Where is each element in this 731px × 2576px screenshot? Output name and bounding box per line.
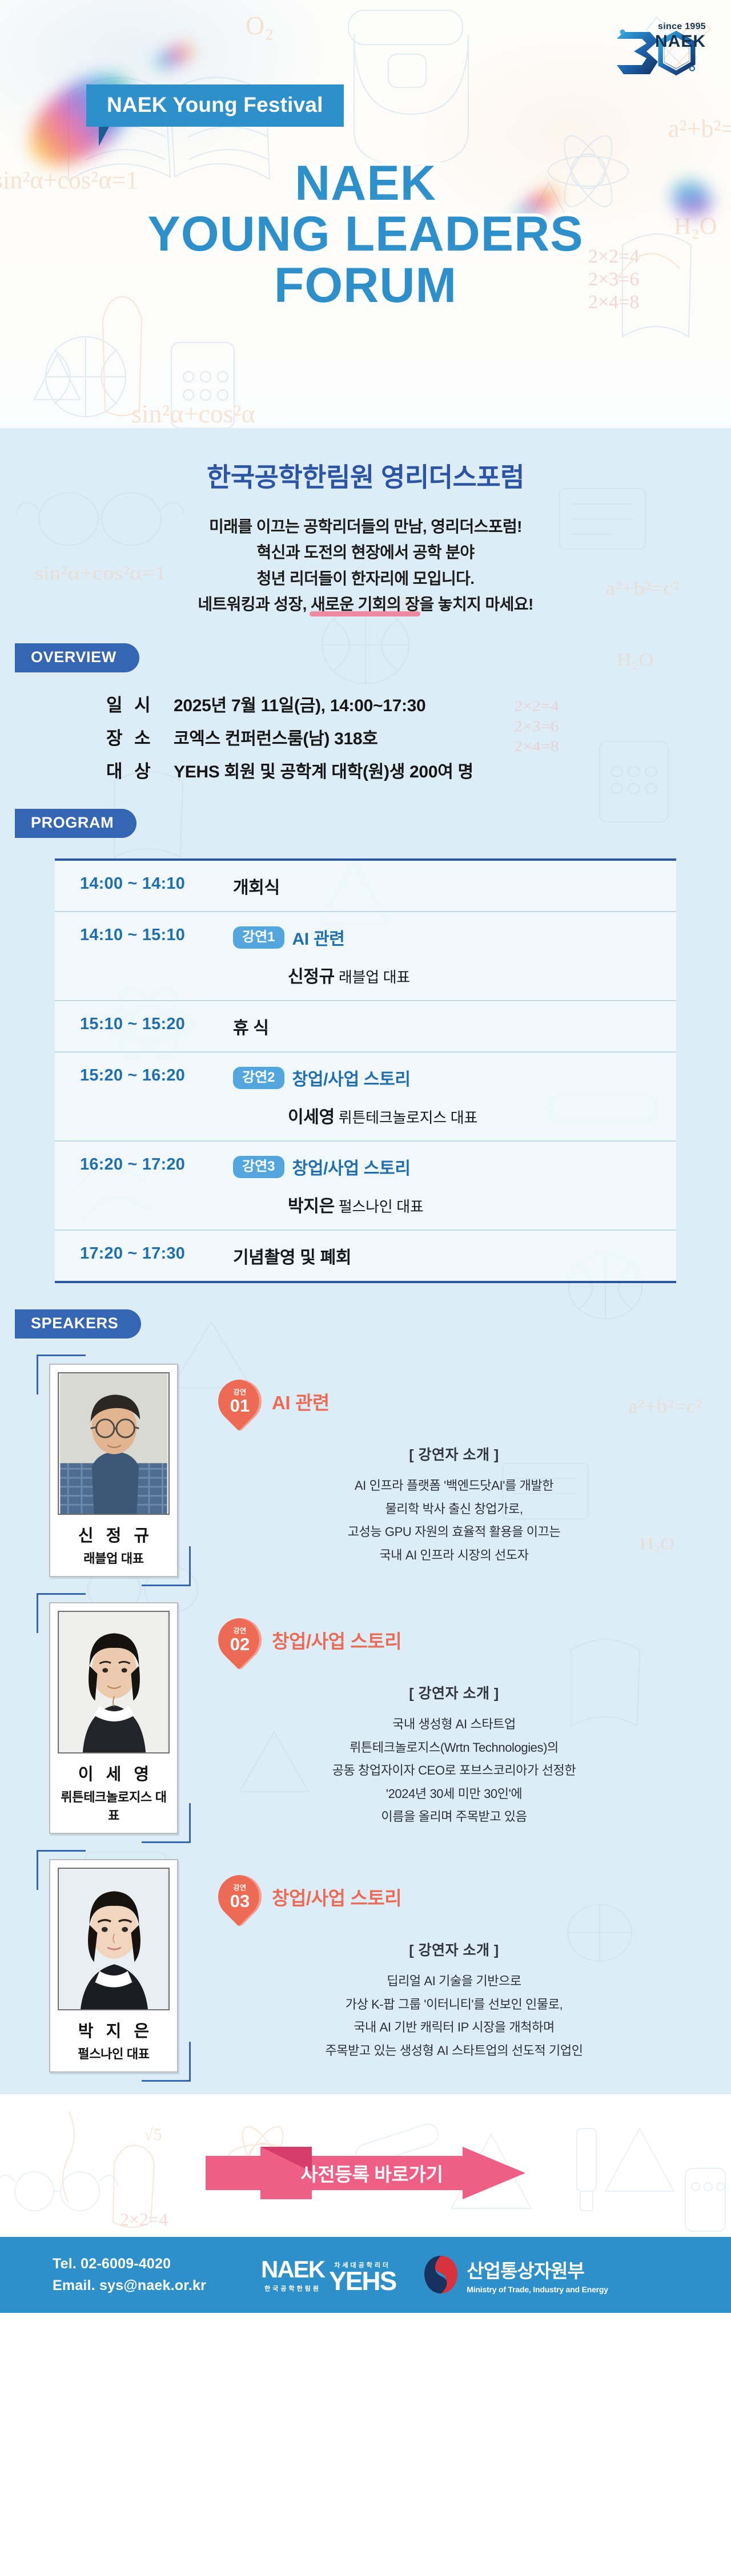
footer-contact: Tel. 02-6009-4020 Email. sys@naek.or.kr [0, 2254, 206, 2296]
speaker-photo [58, 1372, 170, 1515]
overview-key: 장 소 [106, 724, 174, 749]
speaker-photo [58, 1611, 170, 1753]
speaker-bio-line: 공동 창업자이자 CEO로 포브스코리아가 선정한 [210, 1759, 698, 1782]
intro-line-2: 혁신과 도전의 현장에서 공학 분야 [0, 539, 731, 565]
program-time: 15:10 ~ 15:20 [80, 1014, 233, 1034]
program-table: 14:00 ~ 14:10 개회식 14:10 ~ 15:10 강연1 [55, 858, 676, 1283]
anniversary-org-label: NAEK [655, 32, 706, 51]
speaker-bio-line: 국내 AI 인프라 시장의 선도자 [210, 1544, 698, 1567]
program-title: 휴 식 [233, 1014, 269, 1039]
title-line-3: FORUM [0, 262, 731, 309]
main-panel: sin²α+cos²α=1 a²+b²=c² H₂O 2×2=4 2×3=6 2… [0, 428, 731, 2094]
program-speaker: 이세영 뤼튼테크놀로지스 대표 [233, 1103, 676, 1128]
program-row: 15:10 ~ 15:20 휴 식 [55, 1001, 676, 1053]
speaker-bio-line: 딥리얼 AI 기술을 기반으로 [210, 1970, 698, 1993]
overview-value: YEHS 회원 및 공학계 대학(원)생 200여 명 [174, 757, 473, 783]
motie-name-en: Ministry of Trade, Industry and Energy [467, 2285, 608, 2294]
pin-sub-label: 강연 [233, 1389, 246, 1396]
naek-yehs-logo: NAEK 한국공학한림원 차세대공학리더 YEHS [261, 2257, 396, 2293]
program-speaker-name: 신정규 [288, 967, 335, 986]
yehs-logo-text: YEHS [329, 2269, 396, 2293]
event-poster: O₂ a²+b²=c² H₂O 2×2=4 2×3=6 2×4=8 sin²α+… [0, 0, 731, 2576]
intro-line-4-post: 을 놓치지 마세요! [419, 595, 533, 613]
program-row: 14:10 ~ 15:10 강연1 AI 관련 신정규 래블업 대표 [55, 912, 676, 1001]
program-row: 14:00 ~ 14:10 개회식 [55, 861, 676, 912]
footer: Tel. 02-6009-4020 Email. sys@naek.or.kr … [0, 2237, 731, 2313]
program-speaker-name: 박지은 [288, 1197, 335, 1216]
program-section: PROGRAM 14:00 ~ 14:10 개회식 14:10 ~ 15:10 [0, 809, 731, 1283]
speaker-intro-heading: [ 강연자 소개 ] [210, 1444, 698, 1464]
program-time: 15:20 ~ 16:20 [80, 1065, 233, 1085]
pin-number: 02 [230, 1635, 250, 1653]
overview-row: 대 상 YEHS 회원 및 공학계 대학(원)생 200여 명 [106, 757, 731, 783]
poster-title: NAEK YOUNG LEADERS FORUM [0, 160, 731, 309]
pin-number: 03 [230, 1892, 250, 1910]
anniversary-logo: since 1995 NAEK [607, 8, 707, 94]
intro-paragraph: 미래를 이끄는 공학리더들의 만남, 영리더스포럼! 혁신과 도전의 현장에서 … [0, 514, 731, 617]
footer-email: Email. sys@naek.or.kr [53, 2275, 206, 2297]
speaker-name: 신 정 규 [58, 1522, 170, 1546]
speaker-bio-line: 주목받고 있는 생성형 AI 스타트업의 선도적 기업인 [210, 2039, 698, 2062]
program-speaker: 신정규 래블업 대표 [233, 962, 676, 987]
pin-number: 01 [230, 1397, 250, 1414]
speaker-role: 래블업 대표 [58, 1549, 170, 1567]
program-title: AI 관련 [292, 925, 345, 950]
program-tag: PROGRAM [15, 809, 136, 838]
speaker-role: 펄스나인 대표 [58, 2044, 170, 2062]
svg-text:2×2=4: 2×2=4 [120, 2209, 168, 2230]
pin-sub-label: 강연 [233, 1627, 246, 1634]
register-button[interactable]: 사전등록 바로가기 [206, 2147, 525, 2199]
program-speaker-role: 래블업 대표 [339, 969, 410, 986]
rainbow-streak [152, 41, 196, 72]
overview-row: 일 시 2025년 7월 11일(금), 14:00~17:30 [106, 691, 731, 716]
speaker-bio-line: 국내 생성형 AI 스타트업 [210, 1713, 698, 1736]
speaker-role: 뤼튼테크놀로지스 대표 [58, 1787, 170, 1824]
naek-logo-text: NAEK [261, 2257, 324, 2281]
program-row: 16:20 ~ 17:20 강연3 창업/사업 스토리 박지은 펄스나인 대표 [55, 1142, 676, 1231]
speaker-card: 박 지 은 펄스나인 대표 강연 03 창업/사 [33, 1859, 698, 2073]
footer-logos: NAEK 한국공학한림원 차세대공학리더 YEHS 산업통상자원부 Minist… [261, 2255, 608, 2296]
speaker-card: 신 정 규 래블업 대표 강연 01 AI 관련 [33, 1364, 698, 1577]
intro-line-4: 네트워킹과 성장, 새로운 기회의 장을 놓치지 마세요! [0, 591, 731, 617]
speakers-tag: SPEAKERS [15, 1309, 141, 1339]
speaker-bio-line: 국내 AI 기반 캐릭터 IP 시장을 개척하며 [210, 2016, 698, 2039]
naek-logo-subtext: 한국공학한림원 [261, 2284, 324, 2293]
overview-key: 대 상 [106, 757, 174, 783]
intro-line-1: 미래를 이끄는 공학리더들의 만남, 영리더스포럼! [0, 514, 731, 539]
intro-line-4-highlight: 새로운 기회의 장 [311, 591, 419, 617]
speaker-bio: 국내 생성형 AI 스타트업 뤼튼테크놀로지스(Wrtn Technologie… [210, 1713, 698, 1828]
speaker-name: 이 세 영 [58, 1761, 170, 1785]
panel-headline: 한국공학한림원 영리더스포럼 [0, 428, 731, 494]
program-title: 기념촬영 및 폐회 [233, 1243, 351, 1268]
motie-name-ko: 산업통상자원부 [467, 2256, 608, 2283]
speaker-intro-heading: [ 강연자 소개 ] [210, 1682, 698, 1703]
speaker-topic: AI 관련 [272, 1388, 330, 1415]
program-title: 개회식 [233, 873, 280, 898]
svg-text:√5: √5 [144, 2125, 162, 2144]
speaker-bio-line: 고성능 GPU 자원의 효율적 활용을 이끄는 [210, 1521, 698, 1543]
title-line-2: YOUNG LEADERS [0, 211, 731, 258]
speaker-photo [58, 1868, 170, 2010]
program-session-badge: 강연2 [233, 1067, 284, 1089]
cta-section: 2×2=4 √5 사전등록 바로가기 [0, 2094, 731, 2237]
overview-value: 코엑스 컨퍼런스룸(남) 318호 [174, 724, 378, 749]
program-speaker-role: 뤼튼테크놀로지스 대표 [339, 1109, 477, 1126]
speaker-bio-line: '2024년 30세 미만 30인'에 [210, 1783, 698, 1805]
program-speaker-role: 펄스나인 대표 [339, 1198, 424, 1215]
speaker-name: 박 지 은 [58, 2018, 170, 2042]
taegeuk-icon [423, 2255, 459, 2296]
intro-line-4-pre: 네트워킹과 성장, [198, 595, 311, 613]
speaker-intro-heading: [ 강연자 소개 ] [210, 1939, 698, 1960]
overview-value: 2025년 7월 11일(금), 14:00~17:30 [174, 691, 425, 716]
program-session-badge: 강연1 [233, 926, 284, 949]
overview-tag: OVERVIEW [15, 643, 139, 672]
overview-section: OVERVIEW 일 시 2025년 7월 11일(금), 14:00~17:3… [0, 643, 731, 783]
overview-row: 장 소 코엑스 컨퍼런스룸(남) 318호 [106, 724, 731, 749]
program-time: 16:20 ~ 17:20 [80, 1154, 233, 1174]
svg-text:O₂: O₂ [246, 11, 274, 40]
motie-logo: 산업통상자원부 Ministry of Trade, Industry and … [423, 2255, 608, 2296]
speakers-section: SPEAKERS [0, 1309, 731, 2073]
festival-ribbon: NAEK Young Festival [86, 84, 344, 127]
footer-tel: Tel. 02-6009-4020 [53, 2254, 206, 2275]
program-speaker-name: 이세영 [288, 1108, 335, 1127]
program-row: 15:20 ~ 16:20 강연2 창업/사업 스토리 이세영 뤼튼테크놀로지스… [55, 1053, 676, 1142]
speaker-card: 이 세 영 뤼튼테크놀로지스 대표 강연 02 [33, 1602, 698, 1834]
speaker-bio-line: 이름을 올리며 주목받고 있음 [210, 1805, 698, 1828]
intro-line-3: 청년 리더들이 한자리에 모입니다. [0, 566, 731, 591]
program-time: 14:00 ~ 14:10 [80, 873, 233, 893]
program-title: 창업/사업 스토리 [292, 1065, 411, 1090]
svg-text:a²+b²=c²: a²+b²=c² [668, 115, 731, 143]
anniversary-since-label: since 1995 [658, 22, 706, 32]
speaker-bio-line: 물리학 박사 출신 창업가로, [210, 1498, 698, 1521]
speaker-bio: AI 인프라 플랫폼 '백엔드닷AI'를 개발한 물리학 박사 출신 창업가로,… [210, 1474, 698, 1567]
overview-rows: 일 시 2025년 7월 11일(금), 14:00~17:30 장 소 코엑스… [0, 691, 731, 783]
speaker-bio-line: AI 인프라 플랫폼 '백엔드닷AI'를 개발한 [210, 1474, 698, 1497]
program-row: 17:20 ~ 17:30 기념촬영 및 폐회 [55, 1231, 676, 1281]
program-speaker: 박지은 펄스나인 대표 [233, 1192, 676, 1217]
title-line-1: NAEK [0, 160, 731, 207]
overview-key: 일 시 [106, 691, 174, 716]
speaker-topic: 창업/사업 스토리 [272, 1883, 401, 1910]
speaker-bio-line: 뤼튼테크놀로지스(Wrtn Technologies)의 [210, 1736, 698, 1759]
speaker-bio-line: 가상 K-팝 그룹 '이터니티'를 선보인 인물로, [210, 1993, 698, 2016]
speaker-number-pin: 강연 01 [209, 1371, 270, 1432]
speaker-bio: 딥리얼 AI 기술을 기반으로 가상 K-팝 그룹 '이터니티'를 선보인 인물… [210, 1970, 698, 2062]
svg-text:sin²α+cos²α: sin²α+cos²α [131, 399, 255, 428]
program-title: 창업/사업 스토리 [292, 1154, 411, 1179]
speaker-number-pin: 강연 03 [209, 1867, 270, 1928]
pin-sub-label: 강연 [233, 1884, 246, 1891]
speaker-topic: 창업/사업 스토리 [272, 1626, 401, 1654]
program-session-badge: 강연3 [233, 1156, 284, 1178]
program-time: 14:10 ~ 15:10 [80, 925, 233, 945]
program-time: 17:20 ~ 17:30 [80, 1243, 233, 1263]
speaker-number-pin: 강연 02 [209, 1610, 270, 1671]
hero-section: O₂ a²+b²=c² H₂O 2×2=4 2×3=6 2×4=8 sin²α+… [0, 0, 731, 428]
